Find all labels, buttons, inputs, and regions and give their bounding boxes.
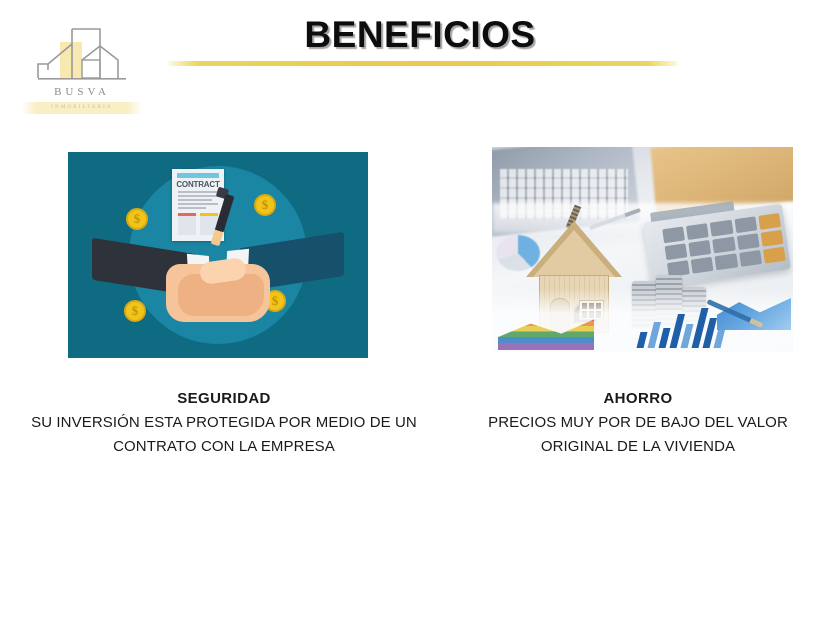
benefit-caption-seguridad: SEGURIDAD SU INVERSIÓN ESTA PROTEGIDA PO… (28, 390, 420, 459)
house-roof-inner (533, 230, 615, 277)
title-underline-rule (168, 61, 678, 66)
dollar-coin-icon: $ (124, 300, 146, 322)
page-title: BENEFICIOS (0, 14, 840, 56)
benefit-image-seguridad: $ $ $ $ CONTRACT (68, 152, 368, 358)
benefit-body: PRECIOS MUY POR DE BAJO DEL VALOR ORIGIN… (452, 411, 824, 459)
benefit-body: SU INVERSIÓN ESTA PROTEGIDA POR MEDIO DE… (28, 411, 420, 459)
benefit-image-ahorro (492, 147, 793, 352)
contract-text-line (178, 207, 206, 209)
contract-text-line (178, 203, 218, 205)
dollar-coin-icon: $ (254, 194, 276, 216)
benefit-heading: AHORRO (452, 390, 824, 407)
dollar-coin-icon: $ (126, 208, 148, 230)
contract-text-line (178, 191, 218, 193)
logo-tagline: INMOBILIARIA (22, 102, 142, 114)
contract-header-bar (177, 173, 219, 178)
benefit-caption-ahorro: AHORRO PRECIOS MUY POR DE BAJO DEL VALOR… (452, 390, 824, 459)
contract-title-text: CONTRACT (172, 180, 224, 189)
contract-field-box (178, 213, 196, 235)
benefit-heading: SEGURIDAD (28, 390, 420, 407)
contract-text-line (178, 195, 218, 197)
slide-canvas: BUSVA INMOBILIARIA BENEFICIOS $ $ $ $ CO… (0, 0, 840, 630)
logo-wordmark: BUSVA (22, 86, 142, 98)
contract-text-line (178, 199, 212, 201)
